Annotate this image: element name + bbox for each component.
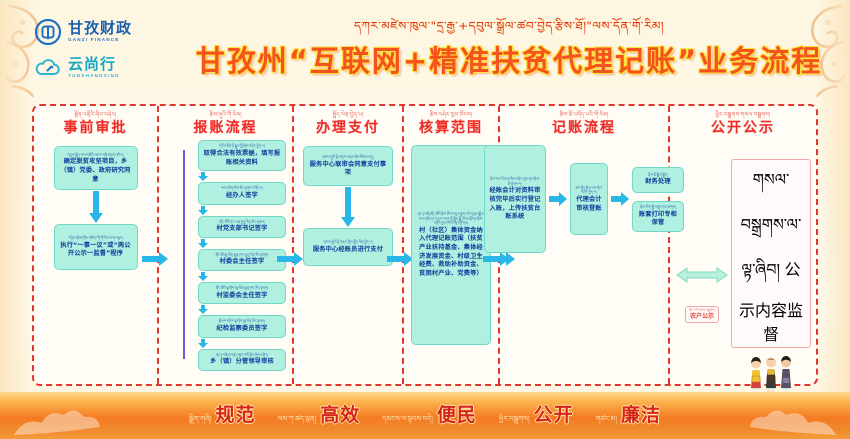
disclosure-art-villagers: གསལ་བསྒྲགས་ལ་ལྟ་ཞིབ། 公示内容监督 [731, 159, 811, 411]
footer-slogan-tibetan: སྒྲིག་གཞི། [189, 412, 212, 431]
title-tibetan: དཀར་མཛེས་ཁུལ་"དྲ་རྒྱ་+དབུལ་སྒྲོལ་ཚབ་བྱེད… [194, 21, 824, 33]
yunshangxing-wordmark: 云尚行 YUNSHANGXING [68, 57, 120, 79]
flow-box-tibetan: ལས་འཛིན་མིས་མིང་རྟགས་འགོད་པ། [203, 186, 281, 191]
flow-box-label: 村党支部书记签字 [203, 225, 281, 234]
flow-box-tibetan: ཞབས་ཞུའི་ལྟེ་གནས་མཉམ་ཞིབ་ཚོགས་འདུ། [308, 155, 388, 160]
footer-banner: སྒྲིག་གཞི། 规范 ལས་ཀ་ཚད་ལྡན། 高效 དམངས་ལ་སྟབ… [0, 392, 850, 439]
column-header-payment: སྤྲོད་ལེན་བྱེད་པ། 办理支付 [316, 113, 380, 135]
flow-box: ཞང་(བཞི)འགན་འཁུར་འགོ་ཁྲིད་ཞིབ་བཤེར། 乡（镇）… [198, 349, 286, 371]
flow-box-tibetan: གྲོང་ཚོ་ཨུ་ཡོན་ལྷན་ཁང་ཀྲུའུ་རེན་མིང་རྟགས… [203, 253, 281, 258]
column-bookkeeping: རྩིས་ཐོ་འགོད་པའི་གོ་རིམ། 记账流程 རྩིས་པས་ཡི… [500, 106, 670, 384]
arrow-right-icon [489, 252, 515, 266]
logo-yunshangxing: 云尚行 YUNSHANGXING [34, 54, 120, 82]
logo-ganzi-finance: 甘孜财政 GANZI FINANCE [34, 18, 132, 46]
arrow-down-icon [198, 272, 208, 281]
flow-box-label: 村监委会主任签字 [203, 292, 281, 301]
arrow-down-icon [198, 206, 208, 215]
column-header-label: 事前审批 [64, 121, 128, 135]
column-header-tibetan: སྤྲོད་ལེན་བྱེད་པ། [316, 113, 380, 118]
flow-box-label: 乡（镇）分管领导审核 [203, 358, 281, 367]
speech-bubble: གསལ་བསྒྲགས་ལ་ལྟ་ཞིབ། 公示内容监督 [731, 159, 811, 348]
flow-box: དངོས་ཟོག་ཉོ་སྒྲུབ་ཀྱི་ཞིབ་བཤེར་བྱེད་པ། 取… [198, 140, 286, 171]
footer-slogan: ཕྱིར་བསྒྲགས། 公开 [499, 400, 574, 431]
column-header-accounting-scope: རྩིས་བཤེར་ཁྱབ་ཁོངས། 核算范围 [419, 113, 483, 135]
cloud-ornament-right [732, 399, 842, 439]
flow-box-tibetan: དངོས་ཟོག་ཉོ་སྒྲུབ་ཀྱི་ཞིབ་བཤེར་བྱེད་པ། [203, 144, 281, 149]
ganzi-finance-name-cn: 甘孜财政 [68, 21, 132, 36]
arrow-down-icon [198, 339, 208, 348]
ganzi-finance-name-en: GANZI FINANCE [68, 38, 132, 43]
bookkeeping-flow: རྩིས་པས་ཡིག་ཆ་ཞིབ་བཤེར་བྱས་ནས་རྩིས་ཐོ་ཞུ… [481, 145, 687, 253]
flow-box-tibetan: "དོན་གཅིག་གྲོས་གཅིག"གི་གོ་རིམ་ལག་བསྟར། [59, 236, 133, 241]
arrow-right-icon [549, 192, 567, 206]
flow-box-label: 执行“一事一议”或“两公开公示一监督”程序 [59, 242, 133, 259]
column-header-pre-approval: སྔོན་འགྲོའི་ཞིབ་བཤེར། 事前审批 [64, 113, 128, 135]
column-reimbursement: རྩིས་ཞུའི་གོ་རིམ། 报账流程 དངོས་ཟོག་ཉོ་སྒྲུབ… [159, 106, 294, 384]
arrow-down-icon [198, 172, 208, 181]
flow-box-label: 村（社区）集体资金纳入代理记账范围（扶贫产业扶持基金、集体经济发展资金、村级卫生… [416, 227, 486, 279]
flow-box: ཞང་(བཞི)གྲོང་ཚོའི་རྩིས་ཁོངས་སུ་བཅུག་པའི་… [411, 145, 491, 345]
flow-box: རྩིས་པས་ཡིག་ཆ་ཞིབ་བཤེར་བྱས་ནས་རྩིས་ཐོ་ཞུ… [484, 145, 546, 253]
flow-box: ཁྲིམས་བཤེར་ལྟ་ཞིབ་ཨུ་ཡོན་མིང་རྟགས། 纪检监察委… [198, 315, 286, 337]
flow-box-tibetan: ཚབ་བྱེད་རྩིས་པས་ཞིབ་བཤེར་བྱེད་པ། [575, 186, 603, 195]
flow-box-label: 经账会计对资料审核完毕后实行登记入账，上传扶贫台账系统 [489, 187, 541, 222]
footer-slogan-tibetan: ཕྱིར་བསྒྲགས། [499, 412, 530, 431]
cloud-icon [34, 54, 62, 82]
footer-slogan-tibetan: ལས་ཀ་ཚད་ལྡན། [278, 412, 317, 431]
villager-man-icon [764, 352, 778, 390]
flow-box-label: 确定脱贫攻坚项目，乡（镇）党委、政府研究同意 [59, 158, 133, 184]
flow-box-tibetan: དབུལ་སྒྲོལ་ལས་གཞིའི་འཆར་གཞི་གཏན་འཁེལ། [59, 153, 133, 158]
callout-label: 农户公示 [689, 313, 715, 320]
column-header-bookkeeping: རྩིས་ཐོ་འགོད་པའི་གོ་རིམ། 记账流程 [552, 113, 616, 135]
flow-box-label: 纪检监察委员签字 [203, 325, 281, 334]
column-header-tibetan: རྩིས་ཞུའི་གོ་རིམ། [194, 113, 258, 118]
footer-slogan-label: 规范 [216, 400, 256, 427]
flow-box: "དོན་གཅིག་གྲོས་གཅིག"གི་གོ་རིམ་ལག་བསྟར། 执… [54, 224, 138, 270]
footer-slogan-label: 便民 [437, 400, 477, 427]
disclosure-left-villagers: ཞིང་པའི་གསལ་བསྒྲགས། 农户公示 [675, 248, 729, 323]
arrow-down-icon [341, 187, 355, 227]
footer-slogan: དམངས་ལ་སྟབས་བདེ། 便民 [382, 400, 477, 431]
footer-slogan: གཙང་མ། 廉洁 [596, 400, 661, 431]
flow-box: གྲོང་ཚོའི་ཏང་ཡན་ཧྲུའུ་རེན་མིང་རྟགས། 村党支部… [198, 216, 286, 238]
flow-box-label: 代理会计审核登账 [575, 196, 603, 213]
arrow-down-icon [198, 239, 208, 248]
flow-box: ཞབས་ཞུའི་ལྟེ་གནས་ཀྱིས་སྤྲོད་ལེན་བྱེད་པ། … [303, 228, 393, 266]
flow-box-label: 经办人签字 [203, 192, 281, 201]
flow-box-tibetan: ཞང་(བཞི)གྲོང་ཚོའི་རྩིས་ཁོངས་སུ་བཅུག་པའི་… [416, 212, 486, 226]
column-header-public-disclosure: ཕྱིར་བསྒྲགས་གསལ་བསྒྲགས། 公开公示 [711, 113, 775, 135]
column-header-label: 公开公示 [711, 121, 775, 135]
column-header-label: 核算范围 [419, 121, 483, 135]
connector-down-2 [341, 186, 355, 228]
column-header-tibetan: རྩིས་ཐོ་འགོད་པའི་གོ་རིམ། [552, 113, 616, 118]
flow-box: གྲོང་ཚོ་ཨུ་ཡོན་ལྷན་ཁང་ཀྲུའུ་རེན་མིང་རྟགས… [198, 249, 286, 271]
footer-slogan: སྒྲིག་གཞི། 规范 [189, 400, 256, 431]
footer-slogan-tibetan: གཙང་མ། [596, 412, 617, 431]
flow-box-tibetan: རྩིས་པས་ཡིག་ཆ་ཞིབ་བཤེར་བྱས་ནས་རྩིས་ཐོ་ཞུ… [489, 177, 541, 186]
villager-elder-icon [779, 352, 793, 390]
arrow-right-icon [611, 192, 629, 206]
flow-box: དབུལ་སྒྲོལ་ལས་གཞིའི་འཆར་གཞི་གཏན་འཁེལ། 确定… [54, 146, 138, 190]
arrow-down-icon [89, 191, 103, 223]
villager-woman-icon [749, 352, 763, 390]
flow-box-tibetan: གྲོང་ཚོའི་ལྟ་ཞིབ་ཨུ་ཡོན་ལྷན་ཁང་མིང་རྟགས། [203, 286, 281, 291]
footer-slogan: ལས་ཀ་ཚད་ལྡན། 高效 [278, 400, 361, 431]
flow-box: ལས་འཛིན་མིས་མིང་རྟགས་འགོད་པ། 经办人签字 [198, 182, 286, 204]
column-header-label: 报账流程 [194, 121, 258, 135]
footer-slogan-list: སྒྲིག་གཞི། 规范 ལས་ཀ་ཚད་ལྡན། 高效 དམངས་ལ་སྟབ… [189, 400, 661, 431]
poster-root: 甘孜财政 GANZI FINANCE 云尚行 YUNSHANGXING [0, 0, 850, 439]
flow-box-tibetan: ཁྲིམས་བཤེར་ལྟ་ཞིབ་ཨུ་ཡོན་མིང་རྟགས། [203, 319, 281, 324]
flow-box: ཚབ་བྱེད་རྩིས་པས་ཞིབ་བཤེར་བྱེད་པ། 代理会计审核登… [570, 163, 608, 235]
column-pre-approval: སྔོན་འགྲོའི་ཞིབ་བཤེར། 事前审批 དབུལ་སྒྲོལ་ལས… [34, 106, 159, 384]
column-header-label: 办理支付 [316, 121, 380, 135]
connector-down-1 [89, 190, 103, 224]
flow-box-tibetan: ཞང་(བཞི)འགན་འཁུར་འགོ་ཁྲིད་ཞིབ་བཤེར། [203, 353, 281, 358]
column-public-disclosure: ཕྱིར་བསྒྲགས་གསལ་བསྒྲགས། 公开公示 ཞིང་པའི་གསལ… [670, 106, 816, 384]
flow-box-tibetan: ཞབས་ཞུའི་ལྟེ་གནས་ཀྱིས་སྤྲོད་ལེན་བྱེད་པ། [308, 240, 388, 245]
flow-box-tibetan: གྲོང་ཚོའི་ཏང་ཡན་ཧྲུའུ་རེན་མིང་རྟགས། [203, 220, 281, 225]
callout-badge: ཞིང་པའི་གསལ་བསྒྲགས། 农户公示 [685, 306, 719, 323]
flow-box-label: 服务中心经账员进行支付 [308, 246, 388, 255]
logo-group: 甘孜财政 GANZI FINANCE 云尚行 YUNSHANGXING [34, 18, 194, 82]
footer-slogan-label: 高效 [320, 400, 360, 427]
title-block: དཀར་མཛེས་ཁུལ་"དྲ་རྒྱ་+དབུལ་སྒྲོལ་ཚབ་བྱེད… [194, 20, 850, 79]
column-header-tibetan: ཕྱིར་བསྒྲགས་གསལ་བསྒྲགས། [711, 113, 775, 118]
cloud-ornament-left [8, 399, 118, 439]
flow-box-label: 取得合法有效票据，填写报账相关资料 [203, 150, 281, 167]
footer-slogan-label: 廉洁 [621, 400, 661, 427]
flow-box-label: 服务中心联审会同意支付事项 [308, 161, 388, 178]
flowchart-panel: སྔོན་འགྲོའི་ཞིབ་བཤེར། 事前审批 དབུལ་སྒྲོལ་ལས… [32, 104, 818, 386]
disclosure-item-villagers: ཞིང་པའི་གསལ་བསྒྲགས། 农户公示 གསལ་བསྒྲགས་ལ་ལྟ… [670, 159, 816, 411]
footer-slogan-label: 公开 [534, 400, 574, 427]
column-header-tibetan: སྔོན་འགྲོའི་ཞིབ་བཤེར། [64, 113, 128, 118]
arrow-down-icon [198, 305, 208, 314]
column-header-label: 记账流程 [552, 121, 616, 135]
yunshangxing-name-cn: 云尚行 [68, 57, 120, 72]
ganzi-finance-wordmark: 甘孜财政 GANZI FINANCE [68, 21, 132, 43]
reimbursement-step-list: དངོས་ཟོག་ཉོ་སྒྲུབ་ཀྱི་ཞིབ་བཤེར་བྱེད་པ། 取… [159, 140, 292, 371]
vertical-connector [183, 150, 185, 359]
poster-header: 甘孜财政 GANZI FINANCE 云尚行 YUNSHANGXING [0, 0, 850, 100]
flow-box: གྲོང་ཚོའི་ལྟ་ཞིབ་ཨུ་ཡོན་ལྷན་ཁང་མིང་རྟགས།… [198, 282, 286, 304]
ganzi-finance-icon [34, 18, 62, 46]
column-payment: སྤྲོད་ལེན་བྱེད་པ། 办理支付 ཞབས་ཞུའི་ལྟེ་གནས་… [294, 106, 404, 384]
flow-box: ཞབས་ཞུའི་ལྟེ་གནས་མཉམ་ཞིབ་ཚོགས་འདུ། 服务中心联… [303, 146, 393, 186]
yunshangxing-name-en: YUNSHANGXING [68, 74, 120, 79]
flow-box-label: 村委会主任签字 [203, 258, 281, 267]
footer-slogan-tibetan: དམངས་ལ་སྟབས་བདེ། [382, 412, 433, 431]
villagers-illustration [749, 350, 793, 390]
column-header-reimbursement: རྩིས་ཞུའི་གོ་རིམ། 报账流程 [194, 113, 258, 135]
page-title: 甘孜州“互联网+精准扶贫代理记账”业务流程 [194, 38, 824, 80]
double-arrow-icon [675, 248, 729, 302]
column-header-tibetan: རྩིས་བཤེར་ཁྱབ་ཁོངས། [419, 113, 483, 118]
